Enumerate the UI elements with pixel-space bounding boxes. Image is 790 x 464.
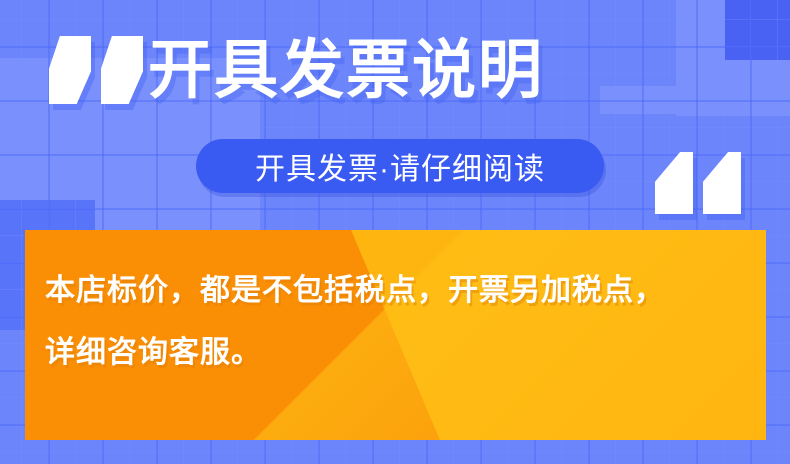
quote-open-mark-left bbox=[49, 36, 91, 104]
page-title: 开具发票说明 bbox=[148, 30, 544, 110]
quote-close-icon bbox=[655, 152, 741, 214]
notice-line: 详细咨询客服。 bbox=[45, 322, 766, 384]
invoice-notice-banner: 开具发票说明 开具发票·请仔细阅读 本店标价，都是不包括税点，开票另加税点， 详… bbox=[0, 0, 790, 464]
quote-open-mark-right bbox=[101, 36, 143, 104]
notice-panel-body: 本店标价，都是不包括税点，开票另加税点， 详细咨询客服。 bbox=[25, 230, 766, 384]
subtitle-pill-label: 开具发票·请仔细阅读 bbox=[255, 144, 545, 188]
quote-close-mark-right bbox=[703, 152, 741, 214]
notice-line: 本店标价，都是不包括税点，开票另加税点， bbox=[45, 260, 766, 322]
notice-panel: 本店标价，都是不包括税点，开票另加税点， 详细咨询客服。 bbox=[25, 230, 766, 440]
quote-open-icon bbox=[49, 36, 143, 104]
quote-close-mark-left bbox=[655, 152, 693, 214]
subtitle-pill: 开具发票·请仔细阅读 bbox=[196, 139, 604, 193]
